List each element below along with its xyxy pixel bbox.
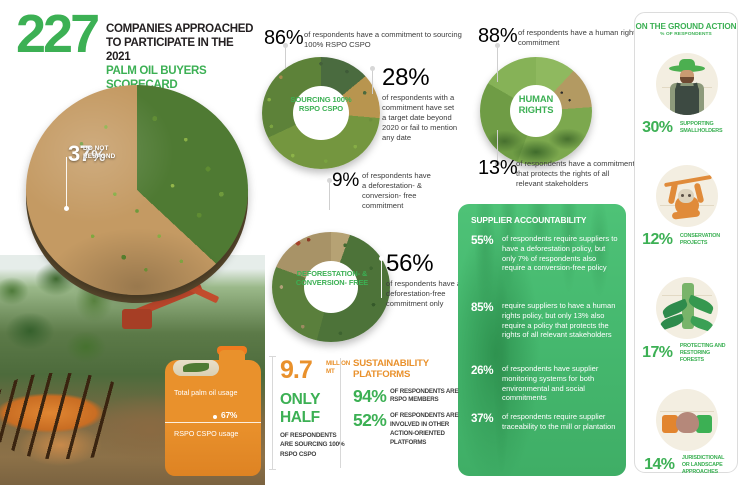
- supplier-item: 37% of respondents require supplier trac…: [471, 412, 619, 432]
- pie-shading: [26, 85, 248, 295]
- land-parcel-center: [676, 412, 699, 433]
- callout-28-text: of respondents with a commitment have se…: [382, 93, 460, 143]
- jerrycan-leader-line: [272, 356, 273, 470]
- leader-tick-bottom: [269, 469, 276, 470]
- callout-56-value: 56%: [386, 250, 466, 278]
- sloth-icon: [656, 165, 718, 227]
- donut3-label: DEFORESTATION- & CONVERSION- FREE: [291, 270, 373, 287]
- callout-56-leader: [381, 258, 382, 298]
- ground-action-value-group: 14% JURISDICTIONAL OR LANDSCAPE APPROACH…: [635, 455, 739, 475]
- supplier-item-value: 37%: [471, 412, 500, 425]
- pie-caption: DO NOT RESPOND: [83, 145, 135, 160]
- supplier-item: 26% of respondents have supplier monitor…: [471, 364, 619, 403]
- jerrycan-pct-dot: [213, 415, 217, 419]
- supplier-item: 55% of respondents require suppliers to …: [471, 234, 619, 273]
- pie-leader-line: [66, 157, 67, 209]
- usage-unit: MILLION MT: [326, 358, 352, 376]
- callout-9-value: 9%: [332, 170, 359, 191]
- jerrycan-body: Total palm oil usage 67% RSPO CSPO usage: [165, 360, 261, 476]
- title-line-2: TO PARTICIPATE IN THE 2021: [106, 35, 255, 63]
- leaf-3: [659, 314, 685, 331]
- supplier-item: 85% require suppliers to have a human ri…: [471, 301, 619, 340]
- callout-88-value: 88%: [478, 25, 517, 47]
- supplier-item-value: 85%: [471, 301, 500, 314]
- ground-action-item-conservation: 12% CONSERVATION PROJECTS: [635, 165, 739, 249]
- tiger-illustration: [0, 373, 142, 459]
- ground-action-value-group: 30% SUPPORTING SMALLHOLDERS: [635, 119, 739, 137]
- jerrycan-graphic: Total palm oil usage 67% RSPO CSPO usage: [165, 348, 261, 476]
- supplier-item-text: of respondents require supplier traceabi…: [502, 412, 619, 432]
- supplier-item-text: require suppliers to have a human rights…: [502, 301, 619, 340]
- sloth-eye-left: [681, 194, 684, 197]
- callout-88: 88% of respondents have a human rights c…: [478, 25, 638, 48]
- ground-action-value: 12%: [642, 231, 672, 249]
- platform-row: 94% OF RESPONDENTS ARE RSPO MEMBERS: [353, 388, 465, 406]
- overalls: [675, 86, 699, 115]
- supplier-item-text: of respondents require suppliers to have…: [502, 234, 619, 273]
- callout-56: 56% of respondents have a deforestation-…: [386, 250, 466, 309]
- callout-88-text: of respondents have a human rights commi…: [518, 28, 640, 48]
- callout-86-text: of respondents have a commitment to sour…: [304, 30, 476, 50]
- leaf-4: [689, 316, 715, 333]
- ground-action-value: 17%: [642, 344, 672, 362]
- ground-action-value-group: 17% PROTECTING AND RESTORING FORESTS: [635, 343, 739, 363]
- jerrycan-top-label: Total palm oil usage: [174, 388, 258, 397]
- leader-dot: [370, 66, 375, 71]
- vertical-divider: [340, 358, 341, 468]
- callout-28-value: 28%: [382, 64, 460, 92]
- on-the-ground-subtitle: % OF RESPONDENTS: [635, 32, 737, 37]
- callout-56-text: of respondents have a deforestation-free…: [386, 279, 466, 309]
- ground-action-value-group: 12% CONSERVATION PROJECTS: [635, 231, 739, 249]
- jerrycan-label-window: [173, 360, 219, 376]
- companies-count: 227: [16, 7, 97, 61]
- ground-action-item-jurisdictional: 14% JURISDICTIONAL OR LANDSCAPE APPROACH…: [635, 389, 739, 475]
- platforms-title: SUSTAINABILITY PLATFORMS: [353, 358, 465, 381]
- ground-action-label: SUPPORTING SMALLHOLDERS: [680, 121, 732, 135]
- platform-label: OF RESPONDENTS ARE INVOLVED IN OTHER ACT…: [390, 412, 465, 447]
- main-pie-chart: 37% DO NOT RESPOND: [26, 85, 248, 307]
- donut2-label: HUMAN RIGHTS: [502, 94, 570, 116]
- supplier-item-value: 55%: [471, 234, 500, 247]
- usage-block: 9.7 MILLION MT ONLY HALF OF RESPONDENTS …: [280, 358, 352, 459]
- sloth-eye-right: [688, 194, 691, 197]
- supplier-item-text: of respondents have supplier monitoring …: [502, 364, 619, 403]
- callout-28-leader: [372, 68, 373, 94]
- sustainability-platforms-block: SUSTAINABILITY PLATFORMS 94% OF RESPONDE…: [353, 358, 465, 447]
- platform-label: OF RESPONDENTS ARE RSPO MEMBERS: [390, 388, 465, 406]
- page-title: 227 COMPANIES APPROACHED TO PARTICIPATE …: [16, 13, 261, 71]
- callout-28: 28% of respondents with a commitment hav…: [382, 64, 460, 143]
- jerrycan-fill-line: [165, 422, 261, 423]
- supplier-accountability-title: SUPPLIER ACCOUNTABILITY: [471, 215, 586, 225]
- title-lines: COMPANIES APPROACHED TO PARTICIPATE IN T…: [106, 21, 266, 91]
- ground-action-value: 14%: [644, 456, 674, 474]
- on-the-ground-action-card: ON THE GROUND ACTION % OF RESPONDENTS 30…: [634, 12, 738, 473]
- on-the-ground-title: ON THE GROUND ACTION: [635, 22, 737, 31]
- forest-icon: [656, 277, 718, 339]
- ground-action-item-forests: 17% PROTECTING AND RESTORING FORESTS: [635, 277, 739, 363]
- jurisdictional-icon: [656, 389, 718, 451]
- supplier-accountability-panel: SUPPLIER ACCOUNTABILITY 55% of responden…: [458, 204, 626, 476]
- jerrycan-pct-value: 67%: [221, 410, 237, 420]
- platform-value: 94%: [353, 388, 386, 406]
- leader-dot: [379, 256, 384, 261]
- title-line-1: COMPANIES APPROACHED: [106, 21, 255, 35]
- callout-9-leader: [329, 180, 330, 210]
- ground-action-label: PROTECTING AND RESTORING FORESTS: [680, 343, 732, 363]
- callout-86-value: 86%: [264, 27, 303, 49]
- pie-surface: [26, 85, 248, 295]
- jerrycan-bottom-label: RSPO CSPO usage: [174, 429, 258, 438]
- callout-9: 9% of respondents have a deforestation- …: [332, 170, 432, 192]
- usage-number: 9.7: [280, 358, 312, 383]
- leader-tick-top: [269, 356, 276, 357]
- only-half-headline: ONLY HALF: [280, 383, 352, 427]
- leaf-icon: [183, 363, 209, 372]
- callout-13-value: 13%: [478, 157, 517, 179]
- ground-action-value: 30%: [642, 119, 672, 137]
- ground-action-label: JURISDICTIONAL OR LANDSCAPE APPROACHES: [682, 455, 730, 475]
- callout-9-text: of respondents have a deforestation- & c…: [362, 171, 434, 211]
- donut1-label: SOURCING 100% RSPO CSPO: [285, 96, 357, 113]
- jerrycan-pct-group: 67%: [213, 412, 257, 420]
- platform-value: 52%: [353, 412, 386, 430]
- ground-action-label: CONSERVATION PROJECTS: [680, 233, 732, 247]
- farmer-icon: [656, 53, 718, 115]
- platform-row: 52% OF RESPONDENTS ARE INVOLVED IN OTHER…: [353, 412, 465, 447]
- supplier-item-value: 26%: [471, 364, 500, 377]
- callout-13-text: of respondents have a commitment that pr…: [516, 159, 636, 189]
- infographic-canvas: 227 COMPANIES APPROACHED TO PARTICIPATE …: [0, 0, 749, 485]
- ground-action-item-smallholders: 30% SUPPORTING SMALLHOLDERS: [635, 53, 739, 137]
- callout-86: 86% of respondents have a commitment to …: [264, 27, 474, 50]
- callout-13: 13% of respondents have a commitment tha…: [478, 157, 638, 180]
- callout-88-leader: [497, 45, 498, 82]
- excavator-cab: [122, 309, 152, 329]
